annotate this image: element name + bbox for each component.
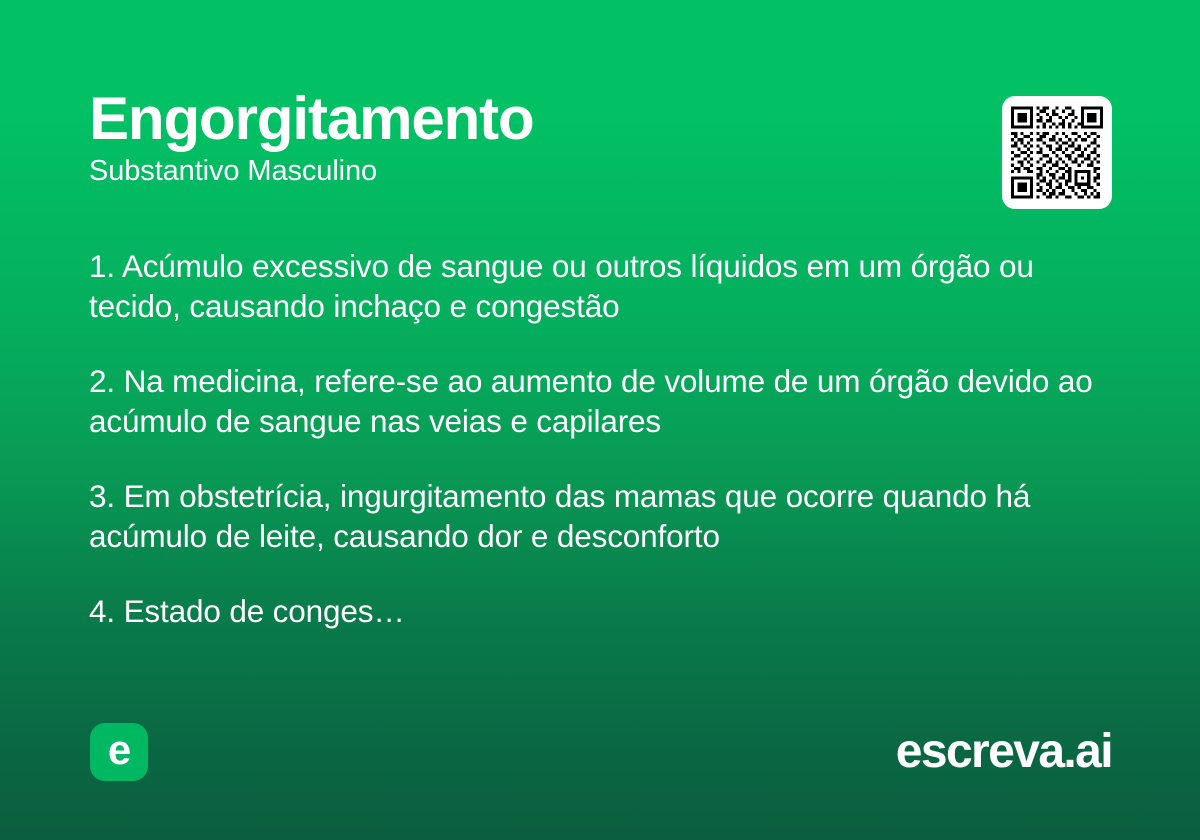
definition-list: 1. Acúmulo excessivo de sangue ou outros…	[89, 246, 1113, 631]
brand-wordmark: escreva.ai	[896, 722, 1112, 782]
brand-logo-glyph: e	[108, 729, 130, 771]
definition-item: 3. Em obstetrícia, ingurgitamento das ma…	[89, 476, 1113, 556]
qr-code-icon	[1011, 105, 1103, 200]
card-header: Engorgitamento Substantivo Masculino	[89, 88, 1060, 189]
qr-code[interactable]	[1002, 96, 1112, 209]
definition-item: 2. Na medicina, refere-se ao aumento de …	[89, 361, 1113, 441]
definition-item: 4. Estado de conges…	[89, 591, 1113, 631]
definition-item: 1. Acúmulo excessivo de sangue ou outros…	[89, 246, 1113, 326]
brand-logo: e	[90, 723, 148, 781]
dictionary-card: Engorgitamento Substantivo Masculino	[0, 0, 1200, 840]
word-class-subtitle: Substantivo Masculino	[89, 155, 1060, 188]
page-title: Engorgitamento	[89, 88, 1060, 149]
